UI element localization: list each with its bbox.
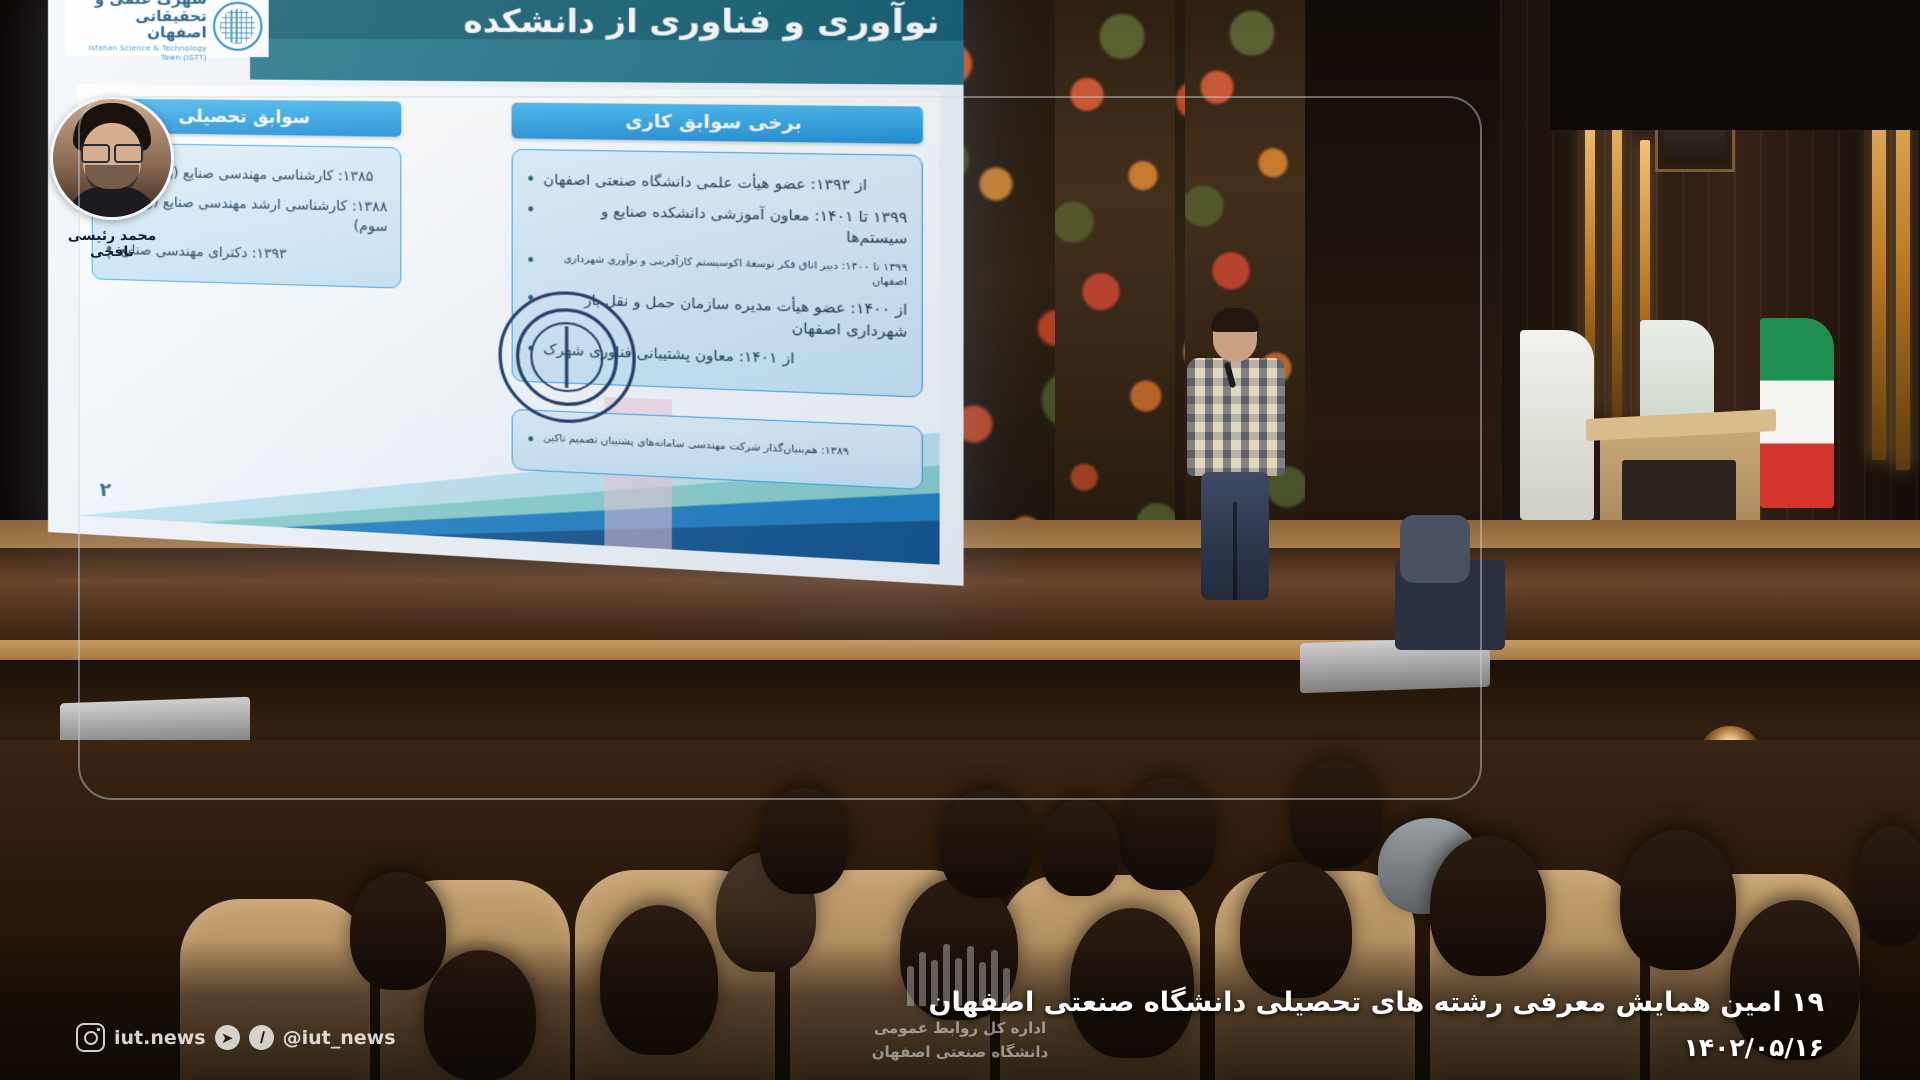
list-item: •۱۳۹۹ تا ۱۴۰۱: معاون آموزشی دانشکده صنای… <box>526 200 908 251</box>
telegram-icon[interactable]: ➤ <box>215 1025 240 1050</box>
audience-head <box>1855 826 1920 946</box>
screenshot-root: نوآوری و فناوری از دانشکده شهرک علمی و ت… <box>0 0 1920 1080</box>
instagram-handle[interactable]: iut.news <box>114 1027 206 1049</box>
avatar <box>50 96 174 220</box>
audience-head <box>1290 760 1382 868</box>
istt-logo-fa: شهرک علمی و تحقیقاتی اصفهان <box>72 0 207 41</box>
social-handles: iut.news ➤ ا @iut_news <box>76 1023 396 1052</box>
slide-body: سوابق تحصیلی •۱۳۸۵: کارشناسی مهندسی صنای… <box>78 84 940 564</box>
presenter-portrait-block: محمد رئیسی نافچی <box>48 96 176 260</box>
dark-wall-corner <box>1550 0 1920 130</box>
istt-logo: شهرک علمی و تحقیقاتی اصفهان Isfahan Scie… <box>66 0 269 57</box>
presenter-name: محمد رئیسی نافچی <box>48 228 176 260</box>
instagram-icon[interactable] <box>76 1023 105 1052</box>
slide-header-band-secondary <box>250 39 964 85</box>
bullet-icon: • <box>526 170 536 189</box>
wall-light-slat <box>1612 80 1622 420</box>
audience-head <box>760 788 848 894</box>
audience-head <box>1040 800 1120 896</box>
floral-curtain-1 <box>1055 0 1175 560</box>
istt-logo-en: Isfahan Science & Technology Town (ISTT) <box>72 43 207 62</box>
caption-bar: ۱۹ امین همایش معرفی رشته های تحصیلی دانش… <box>0 940 1920 1080</box>
work-item-text: ۱۳۹۹ تا ۱۴۰۰: دبیر اتاق فکر توسعهٔ اکوسی… <box>543 251 907 291</box>
bullet-icon: • <box>526 251 536 270</box>
caption-title: ۱۹ امین همایش معرفی رشته های تحصیلی دانش… <box>928 987 1824 1018</box>
projection-screen: نوآوری و فناوری از دانشکده شهرک علمی و ت… <box>48 0 964 586</box>
slide-banner-title: نوآوری و فناوری از دانشکده <box>463 3 939 42</box>
slide-page-number: ۲ <box>100 479 112 502</box>
caption-date: ۱۴۰۲/۰۵/۱۶ <box>1684 1033 1824 1062</box>
publisher-line-2: دانشگاه صنعتی اصفهان <box>872 1040 1049 1064</box>
audience-head <box>940 790 1032 898</box>
flag-white <box>1520 330 1594 520</box>
work-extra-item-text: ۱۳۸۹: هم‌بنیان‌گذار شرکت مهندسی سامانه‌ه… <box>543 431 848 460</box>
list-item: •۱۳۹۹ تا ۱۴۰۰: دبیر اتاق فکر توسعهٔ اکوس… <box>526 251 908 291</box>
work-item-text: ۱۳۹۹ تا ۱۴۰۱: معاون آموزشی دانشکده صنایع… <box>543 201 907 251</box>
work-heading: برخی سوابق کاری <box>512 103 923 144</box>
bullet-icon: • <box>526 200 536 219</box>
list-item: •۱۳۸۹: هم‌بنیان‌گذار شرکت مهندسی سامانه‌… <box>526 430 908 467</box>
eitaa-icon[interactable]: ا <box>249 1025 274 1050</box>
audience-head <box>1120 778 1216 890</box>
work-item-text: از ۱۳۹۳: عضو هیأت علمی دانشگاه صنعتی اصف… <box>543 170 867 197</box>
istt-globe-icon <box>213 2 262 51</box>
list-item: •از ۱۳۹۳: عضو هیأت علمی دانشگاه صنعتی اص… <box>526 170 908 198</box>
glasses-icon <box>81 144 143 159</box>
eitaa-handle[interactable]: @iut_news <box>283 1027 396 1049</box>
public-relations-gate-icon <box>905 932 1015 1006</box>
publisher-line-1: اداره کل روابط عمومی <box>872 1016 1049 1040</box>
bullet-icon: • <box>526 430 536 449</box>
publisher-credit: اداره کل روابط عمومی دانشگاه صنعتی اصفها… <box>872 1016 1049 1064</box>
backpack <box>1400 515 1470 583</box>
speaker-person <box>1175 310 1295 600</box>
